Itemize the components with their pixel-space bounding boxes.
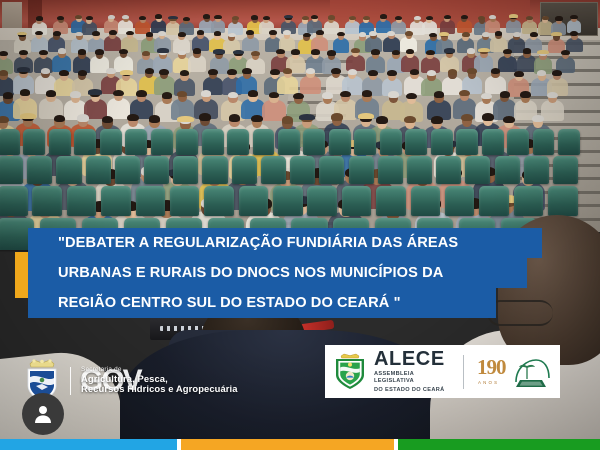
quote-line-1: "DEBATER A REGULARIZAÇÃO FUNDIÁRIA DAS Á… <box>28 228 542 258</box>
secretaria-text-block: Secretaria de Agricultura, Pesca, Recurs… <box>70 367 238 394</box>
anniversary-emblem: 190 ANOS <box>476 354 552 390</box>
event-card: "DEBATER A REGULARIZAÇÃO FUNDIÁRIA DAS Á… <box>0 0 600 450</box>
footer-bar-green <box>398 439 600 450</box>
ceara-state-shield <box>333 353 367 391</box>
person-icon <box>31 402 55 426</box>
alece-wordmark: ALECE ASSEMBLEIA LEGISLATIVA DO ESTADO D… <box>374 349 451 394</box>
footer-bar-blue <box>0 439 177 450</box>
alece-subtitle-1: ASSEMBLEIA LEGISLATIVA <box>374 371 451 385</box>
svg-text:190: 190 <box>477 355 506 379</box>
alece-divider <box>463 355 464 389</box>
quote-line-2: URBANAS E RURAIS DO DNOCS NOS MUNICÍPIOS… <box>28 258 527 288</box>
secretaria-prefix: Secretaria de <box>81 367 238 374</box>
secretaria-logo: Secretaria de Agricultura, Pesca, Recurs… <box>22 358 312 404</box>
alece-logo: ALECE ASSEMBLEIA LEGISLATIVA DO ESTADO D… <box>325 345 560 398</box>
190-anos-icon: 190 ANOS <box>476 354 552 390</box>
anniversary-label-text: ANOS <box>478 380 499 385</box>
alece-subtitle-2: DO ESTADO DO CEARÁ <box>374 387 451 394</box>
footer-color-bar <box>0 439 600 450</box>
avatar[interactable] <box>22 393 64 435</box>
alece-name: ALECE <box>374 349 451 369</box>
footer-bar-amber <box>181 439 394 450</box>
secretaria-line-2: Recursos Hídricos e Agropecuária <box>81 384 238 394</box>
quote-line-3: REGIÃO CENTRO SUL DO ESTADO DO CEARÁ " <box>28 288 496 318</box>
